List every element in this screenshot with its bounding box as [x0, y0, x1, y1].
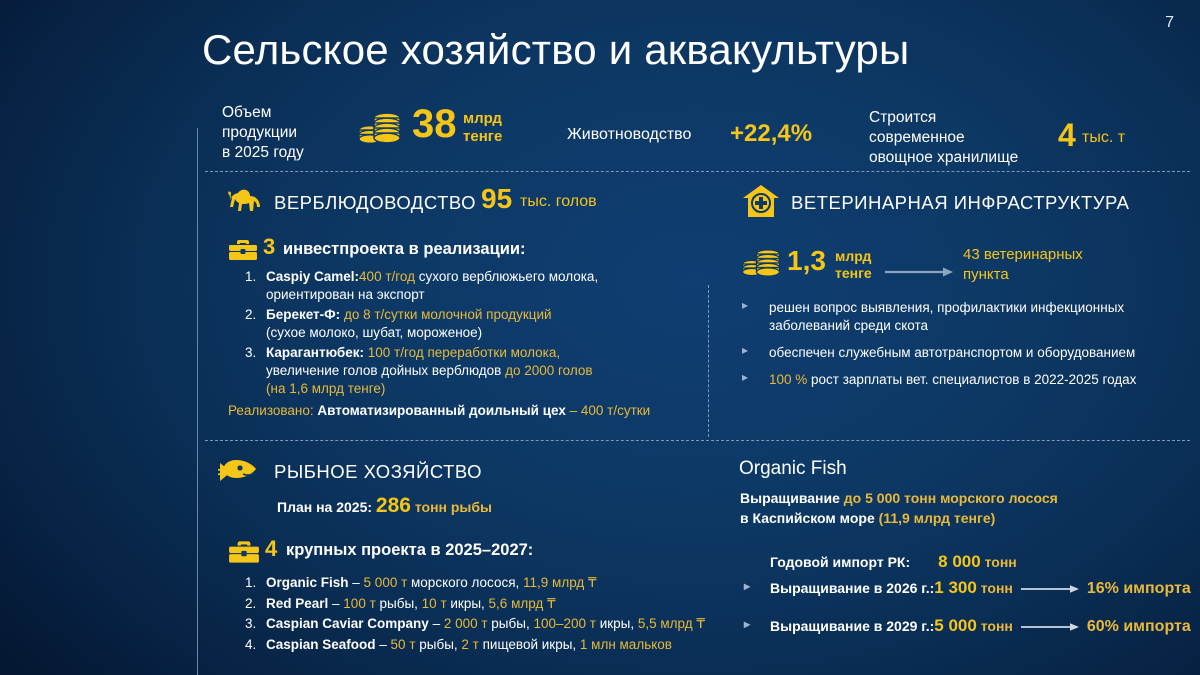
- stat-production-unit: млрд тенге: [463, 110, 502, 146]
- section-header-camel: ВЕРБЛЮДОВОДСТВО: [274, 192, 476, 214]
- list-item: Выращивание в 2029 г.:5 000 тонн60% импо…: [742, 616, 1192, 636]
- list-item: Выращивание в 2026 г.:1 300 тонн16% импо…: [742, 578, 1192, 598]
- list-item: 100 % рост зарплаты вет. специалистов в …: [742, 371, 1172, 389]
- page-title: Сельское хозяйство и аквакультуры: [202, 26, 909, 74]
- vet-budget-value: 1,3: [787, 247, 826, 275]
- organic-fish-rows: Выращивание в 2026 г.:1 300 тонн16% импо…: [742, 578, 1192, 654]
- fishery-plan: План на 2025: 286 тонн рыбы: [277, 494, 492, 518]
- vet-house-icon: [742, 184, 780, 223]
- left-vertical-rule: [197, 128, 198, 675]
- vet-points-result: 43 ветеринарных пункта: [963, 245, 1083, 286]
- slide-canvas: 7 Сельское хозяйство и аквакультуры Объе…: [0, 0, 1200, 675]
- camel-heads-unit: тыс. голов: [520, 193, 597, 211]
- camel-projects-count: 3: [263, 236, 275, 258]
- camel-heads-value: 95: [481, 185, 512, 213]
- arrow-right-icon: [885, 265, 953, 283]
- stat-storage-unit: тыс. т: [1082, 129, 1125, 147]
- organic-fish-subtitle: Выращивание до 5 000 тонн морского лосос…: [740, 489, 1058, 529]
- stat-storage-value: 4: [1058, 119, 1076, 151]
- arrow-right-icon: [1021, 619, 1079, 635]
- coins-icon: [741, 245, 783, 286]
- stat-production-value: 38: [412, 104, 457, 144]
- list-item: Organic Fish – 5 000 т морского лосося, …: [260, 573, 734, 594]
- stat-livestock-value: +22,4%: [730, 120, 812, 148]
- arrow-right-icon: [1021, 581, 1079, 597]
- fishery-projects-caption: крупных проекта в 2025–2027:: [286, 541, 533, 560]
- organic-fish-import-row: Годовой импорт РК:8 000 тонн: [770, 552, 1017, 572]
- camel-projects-caption: инвестпроекта в реализации:: [283, 240, 526, 259]
- list-item: Caspiy Camel:400 т/год сухого верблюжьег…: [260, 268, 704, 304]
- briefcase-icon: [228, 539, 260, 570]
- import-value: 8 000: [910, 552, 981, 571]
- fish-icon: [218, 457, 268, 492]
- section-header-organic-fish: Organic Fish: [739, 458, 847, 480]
- divider-top-dashed: [205, 171, 1190, 172]
- divider-mid-dashed: [205, 440, 1190, 441]
- fishery-projects-list: Organic Fish – 5 000 т морского лосося, …: [234, 573, 734, 655]
- fishery-projects-count: 4: [265, 538, 277, 560]
- camel-projects-list: Caspiy Camel:400 т/год сухого верблюжьег…: [234, 268, 704, 400]
- list-item: решен вопрос выявления, профилактики инф…: [742, 299, 1172, 335]
- section-header-fishery: РЫБНОЕ ХОЗЯЙСТВО: [274, 461, 482, 483]
- camel-icon: [224, 185, 268, 224]
- list-item: обеспечен служебным автотранспортом и об…: [742, 344, 1172, 362]
- list-item: Caspian Seafood – 50 т рыбы, 2 т пищевой…: [260, 635, 734, 656]
- page-number: 7: [1165, 14, 1174, 32]
- fishery-plan-value: 286: [376, 494, 411, 517]
- coins-icon: [356, 108, 404, 153]
- section-header-vet: ВЕТЕРИНАРНАЯ ИНФРАСТРУКТУРА: [791, 192, 1129, 214]
- list-item: Red Pearl – 100 т рыбы, 10 т икры, 5,6 м…: [260, 594, 734, 615]
- list-item: Caspian Caviar Company – 2 000 т рыбы, 1…: [260, 614, 734, 635]
- list-item: Карагантюбек: 100 т/год переработки моло…: [260, 344, 704, 398]
- vet-budget-unit: млрд тенге: [835, 248, 872, 282]
- stat-storage-label: Строится современное овощное хранилище: [869, 108, 1018, 167]
- briefcase-icon: [228, 238, 258, 267]
- stat-production-label: Объем продукции в 2025 году: [222, 103, 304, 162]
- vet-bullet-list: решен вопрос выявления, профилактики инф…: [742, 299, 1172, 398]
- stat-livestock-label: Животноводство: [567, 125, 691, 145]
- camel-realized-note: Реализовано: Автоматизированный доильный…: [228, 402, 650, 420]
- list-item: Берекет-Ф: до 8 т/сутки молочной продукц…: [260, 306, 704, 342]
- divider-vertical-dashed: [708, 285, 709, 437]
